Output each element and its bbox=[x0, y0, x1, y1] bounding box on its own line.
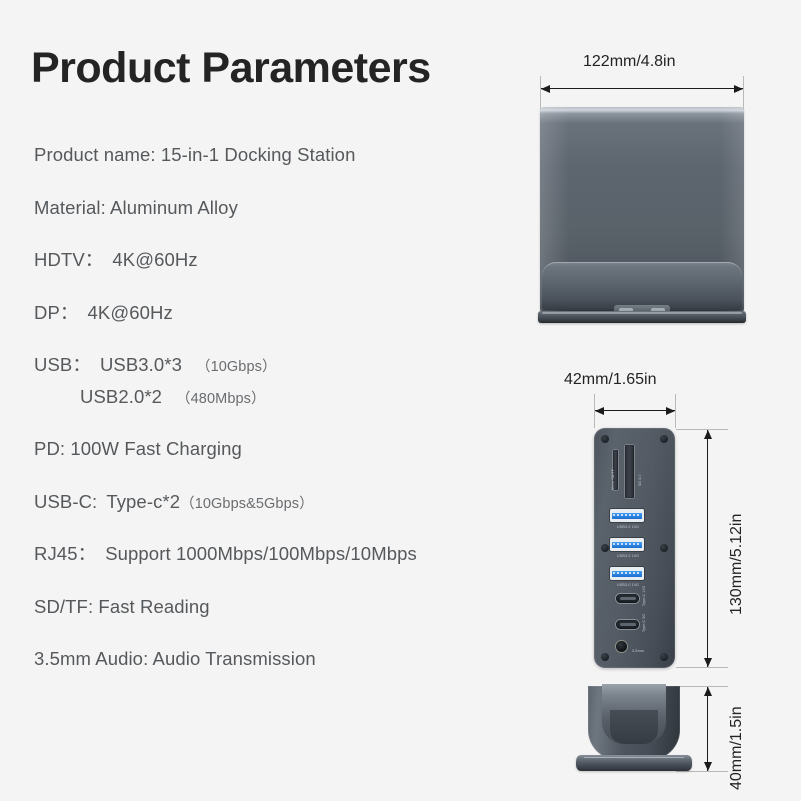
spec-pd-text: PD: 100W Fast Charging bbox=[34, 438, 242, 459]
screw-icon-bottom-right bbox=[660, 653, 668, 661]
audio-jack-port bbox=[616, 641, 627, 652]
usb-a-port-3-contacts bbox=[613, 572, 639, 574]
dock-stand-base-highlight bbox=[584, 757, 684, 759]
spec-pd: PD: 100W Fast Charging bbox=[34, 440, 514, 459]
spec-list: Product name: 15-in-1 Docking Station Ma… bbox=[34, 146, 514, 703]
usb-a-port-1-tongue bbox=[612, 513, 642, 519]
screw-icon-bottom-left bbox=[601, 653, 609, 661]
spec-sd-tf: SD/TF: Fast Reading bbox=[34, 598, 514, 617]
product-diagrams: 122mm/4.8in 42mm/1.65in 130mm/5.12in bbox=[520, 0, 801, 801]
dimension-arrow-width-panel bbox=[595, 410, 675, 411]
screw-icon-mid-right bbox=[660, 544, 668, 552]
tf-card-slot-label: Micro SD/TF bbox=[611, 469, 615, 490]
dock-stand-cavity-inner bbox=[610, 710, 658, 744]
dock-front-base-highlight bbox=[542, 312, 742, 314]
spec-usb2-note: （480Mbps） bbox=[162, 391, 266, 407]
dock-stand-u-body bbox=[588, 686, 680, 760]
screw-icon-top-left bbox=[601, 435, 609, 443]
spec-product-name: Product name: 15-in-1 Docking Station bbox=[34, 146, 514, 165]
usb-a-port-3-label: USB3.0 10G bbox=[617, 583, 639, 587]
spec-usb-c-note: （10Gbps&5Gbps） bbox=[180, 496, 314, 512]
extension-line-panel-right bbox=[675, 394, 676, 428]
usb-c-port-2-label: Type-C 5G bbox=[642, 614, 646, 632]
spec-hdtv-value: 4K@60Hz bbox=[103, 249, 197, 270]
spec-hdtv-label: HDTV： bbox=[34, 249, 103, 270]
screw-icon-mid-left bbox=[601, 544, 609, 552]
usb-a-port-1 bbox=[610, 509, 644, 522]
dimension-arrow-width-top bbox=[541, 88, 743, 89]
spec-audio-text: 3.5mm Audio: Audio Transmission bbox=[34, 648, 316, 669]
spec-usb-c: USB-C:Type-c*2（10Gbps&5Gbps） bbox=[34, 493, 514, 512]
spec-dp-label: DP： bbox=[34, 302, 79, 323]
dock-front-view bbox=[540, 107, 744, 312]
audio-jack-label: 3.5mm bbox=[632, 649, 644, 653]
spec-audio: 3.5mm Audio: Audio Transmission bbox=[34, 650, 514, 669]
spec-usb-c-value: Type-c*2 bbox=[97, 491, 180, 512]
spec-usb3-value: USB3.0*3 bbox=[91, 354, 182, 375]
dock-stand-base-plate bbox=[576, 755, 692, 771]
spec-material: Material: Aluminum Alloy bbox=[34, 199, 514, 218]
spec-hdtv: HDTV：4K@60Hz bbox=[34, 251, 514, 270]
usb-a-port-1-label: USB3.0 10G bbox=[617, 525, 639, 529]
spec-rj45: RJ45：Support 1000Mbps/100Mbps/10Mbps bbox=[34, 545, 514, 564]
dimension-arrow-height-stand bbox=[707, 687, 708, 771]
dimension-label-width-panel: 42mm/1.65in bbox=[564, 371, 657, 389]
usb-a-port-3 bbox=[610, 567, 644, 580]
spec-usb-c-label: USB-C: bbox=[34, 491, 97, 512]
usb-a-port-2-tongue bbox=[612, 542, 642, 548]
extension-line-panel-bottom bbox=[676, 667, 728, 668]
usb-c-port-2 bbox=[616, 620, 639, 629]
spec-material-text: Material: Aluminum Alloy bbox=[34, 197, 238, 218]
spec-usb2: USB2.0*2（480Mbps） bbox=[34, 388, 514, 407]
dimension-label-height-panel: 130mm/5.12in bbox=[728, 514, 746, 615]
spec-usb2-value: USB2.0*2 bbox=[80, 386, 162, 407]
sd-card-slot-label: SD 3.0 bbox=[638, 474, 642, 486]
extension-line-top-right bbox=[743, 76, 744, 110]
dock-front-cradle bbox=[542, 262, 742, 310]
usb-a-port-2-label: USB3.0 10G bbox=[617, 554, 639, 558]
spec-product-name-text: Product name: 15-in-1 Docking Station bbox=[34, 144, 355, 165]
screw-icon-top-right bbox=[660, 435, 668, 443]
dimension-label-height-stand: 40mm/1.5in bbox=[728, 706, 746, 790]
usb-a-port-1-contacts bbox=[613, 514, 639, 516]
usb-c-port-1-label: Type-C 10G bbox=[642, 586, 646, 606]
spec-rj45-label: RJ45： bbox=[34, 543, 96, 564]
spec-sd-tf-text: SD/TF: Fast Reading bbox=[34, 596, 210, 617]
dock-stand-view bbox=[572, 686, 696, 771]
usb-a-port-2 bbox=[610, 538, 644, 551]
spec-rj45-value: Support 1000Mbps/100Mbps/10Mbps bbox=[96, 543, 417, 564]
extension-line-top-left bbox=[540, 76, 541, 110]
extension-line-stand-bottom bbox=[676, 771, 728, 772]
spec-usb3-note: （10Gbps） bbox=[182, 359, 277, 375]
dock-front-base-plate bbox=[538, 311, 746, 323]
spec-usb3-label: USB： bbox=[34, 354, 91, 375]
extension-line-panel-top bbox=[676, 429, 728, 430]
usb-c-port-1 bbox=[616, 594, 639, 603]
product-parameters-page: Product Parameters Product name: 15-in-1… bbox=[0, 0, 801, 801]
dock-port-panel: Micro SD/TF SD 3.0 USB3.0 10G USB3.0 10G bbox=[594, 428, 675, 668]
spec-dp-value: 4K@60Hz bbox=[79, 302, 173, 323]
dock-stand-cavity bbox=[602, 684, 666, 744]
spec-dp: DP：4K@60Hz bbox=[34, 304, 514, 323]
spec-usb3: USB：USB3.0*3（10Gbps） bbox=[34, 356, 514, 375]
sd-card-slot bbox=[625, 445, 634, 498]
usb-a-port-3-tongue bbox=[612, 571, 642, 577]
usb-a-port-2-contacts bbox=[613, 543, 639, 545]
dimension-arrow-height-panel bbox=[707, 430, 708, 667]
dimension-label-width-top: 122mm/4.8in bbox=[583, 53, 676, 71]
page-title: Product Parameters bbox=[31, 44, 431, 93]
